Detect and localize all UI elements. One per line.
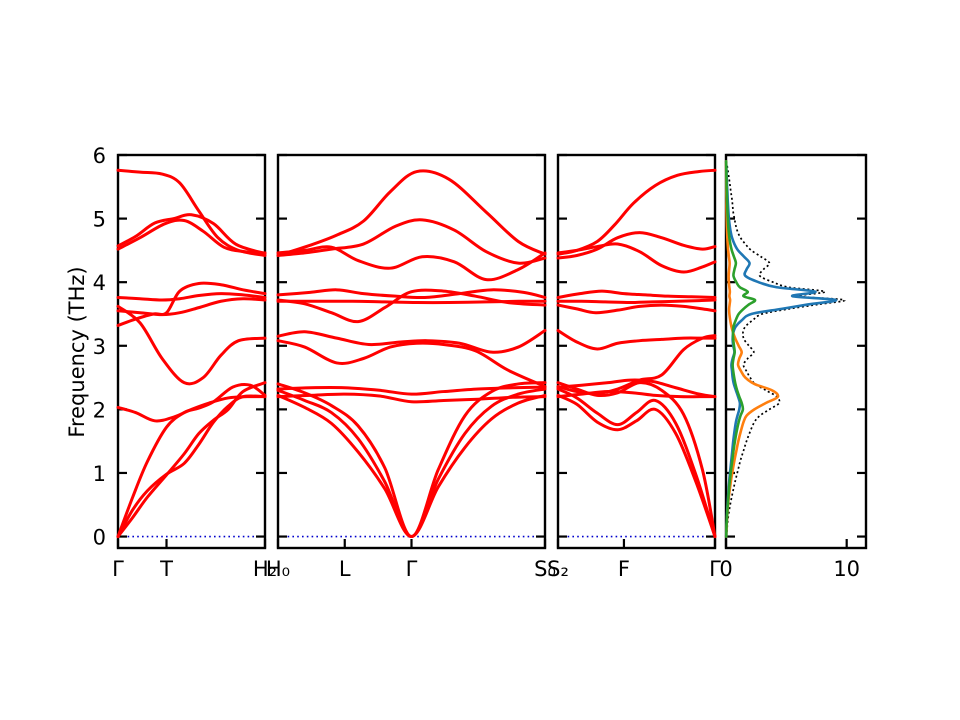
ytick-label-5: 5 — [93, 208, 106, 232]
band-curve-3-2 — [558, 389, 715, 537]
band-curve-3-13 — [558, 170, 715, 254]
xtick-label-3-0: S₂ — [547, 557, 569, 581]
dos-xtick-label-0: 0 — [719, 557, 732, 581]
y-axis-label: Frequency (THz) — [65, 266, 89, 437]
ytick-label-6: 6 — [93, 144, 106, 168]
dos-panel-frame — [726, 155, 866, 548]
band-curve-2-10 — [278, 290, 545, 322]
ytick-label-1: 1 — [93, 462, 106, 486]
band-curve-2-13 — [278, 171, 545, 256]
band-curve-2-1 — [278, 395, 545, 536]
phonon-band-structure-figure: ΓTH₂H₀LΓS₀S₂FΓ0123456010 Frequency (THz) — [0, 0, 960, 720]
ytick-label-3: 3 — [93, 335, 106, 359]
band-curve-2-6 — [278, 341, 545, 387]
ytick-label-0: 0 — [93, 526, 106, 550]
partial-dos-atom-1 — [726, 161, 836, 536]
band-curve-1-11 — [118, 170, 265, 255]
ytick-label-4: 4 — [93, 271, 106, 295]
xtick-label-3-1: F — [618, 557, 630, 581]
xtick-label-1-1: T — [159, 557, 173, 581]
band-curve-3-10 — [558, 305, 715, 313]
xtick-label-2-2: Γ — [406, 557, 418, 581]
dos-xtick-label-1: 10 — [833, 557, 860, 581]
band-curve-2-7 — [278, 331, 545, 353]
xtick-label-2-1: L — [339, 557, 351, 581]
band-curve-1-6 — [118, 299, 265, 315]
band-curve-1-3 — [118, 384, 265, 536]
band-curve-3-7 — [558, 331, 715, 349]
xtick-label-1-0: Γ — [112, 557, 124, 581]
band-curve-1-8 — [118, 283, 265, 325]
ytick-label-2: 2 — [93, 398, 106, 422]
xtick-label-2-0: H₀ — [266, 557, 290, 581]
total-dos — [726, 161, 844, 536]
plot-canvas: ΓTH₂H₀LΓS₀S₂FΓ0123456010 Frequency (THz) — [0, 0, 960, 720]
panel-frame-3 — [558, 155, 715, 548]
band-curve-3-8 — [558, 300, 715, 303]
band-curve-1-2 — [118, 383, 265, 537]
band-curve-2-5 — [278, 387, 545, 394]
band-curve-3-12 — [558, 233, 715, 258]
generated-plot-layer: ΓTH₂H₀LΓS₀S₂FΓ0123456010 — [93, 144, 866, 581]
band-curve-1-4 — [118, 397, 265, 421]
band-curve-3-9 — [558, 291, 715, 297]
band-curve-1-9 — [118, 215, 265, 254]
axis-label-layer: Frequency (THz) — [65, 266, 89, 437]
band-curve-1-1 — [118, 396, 265, 537]
